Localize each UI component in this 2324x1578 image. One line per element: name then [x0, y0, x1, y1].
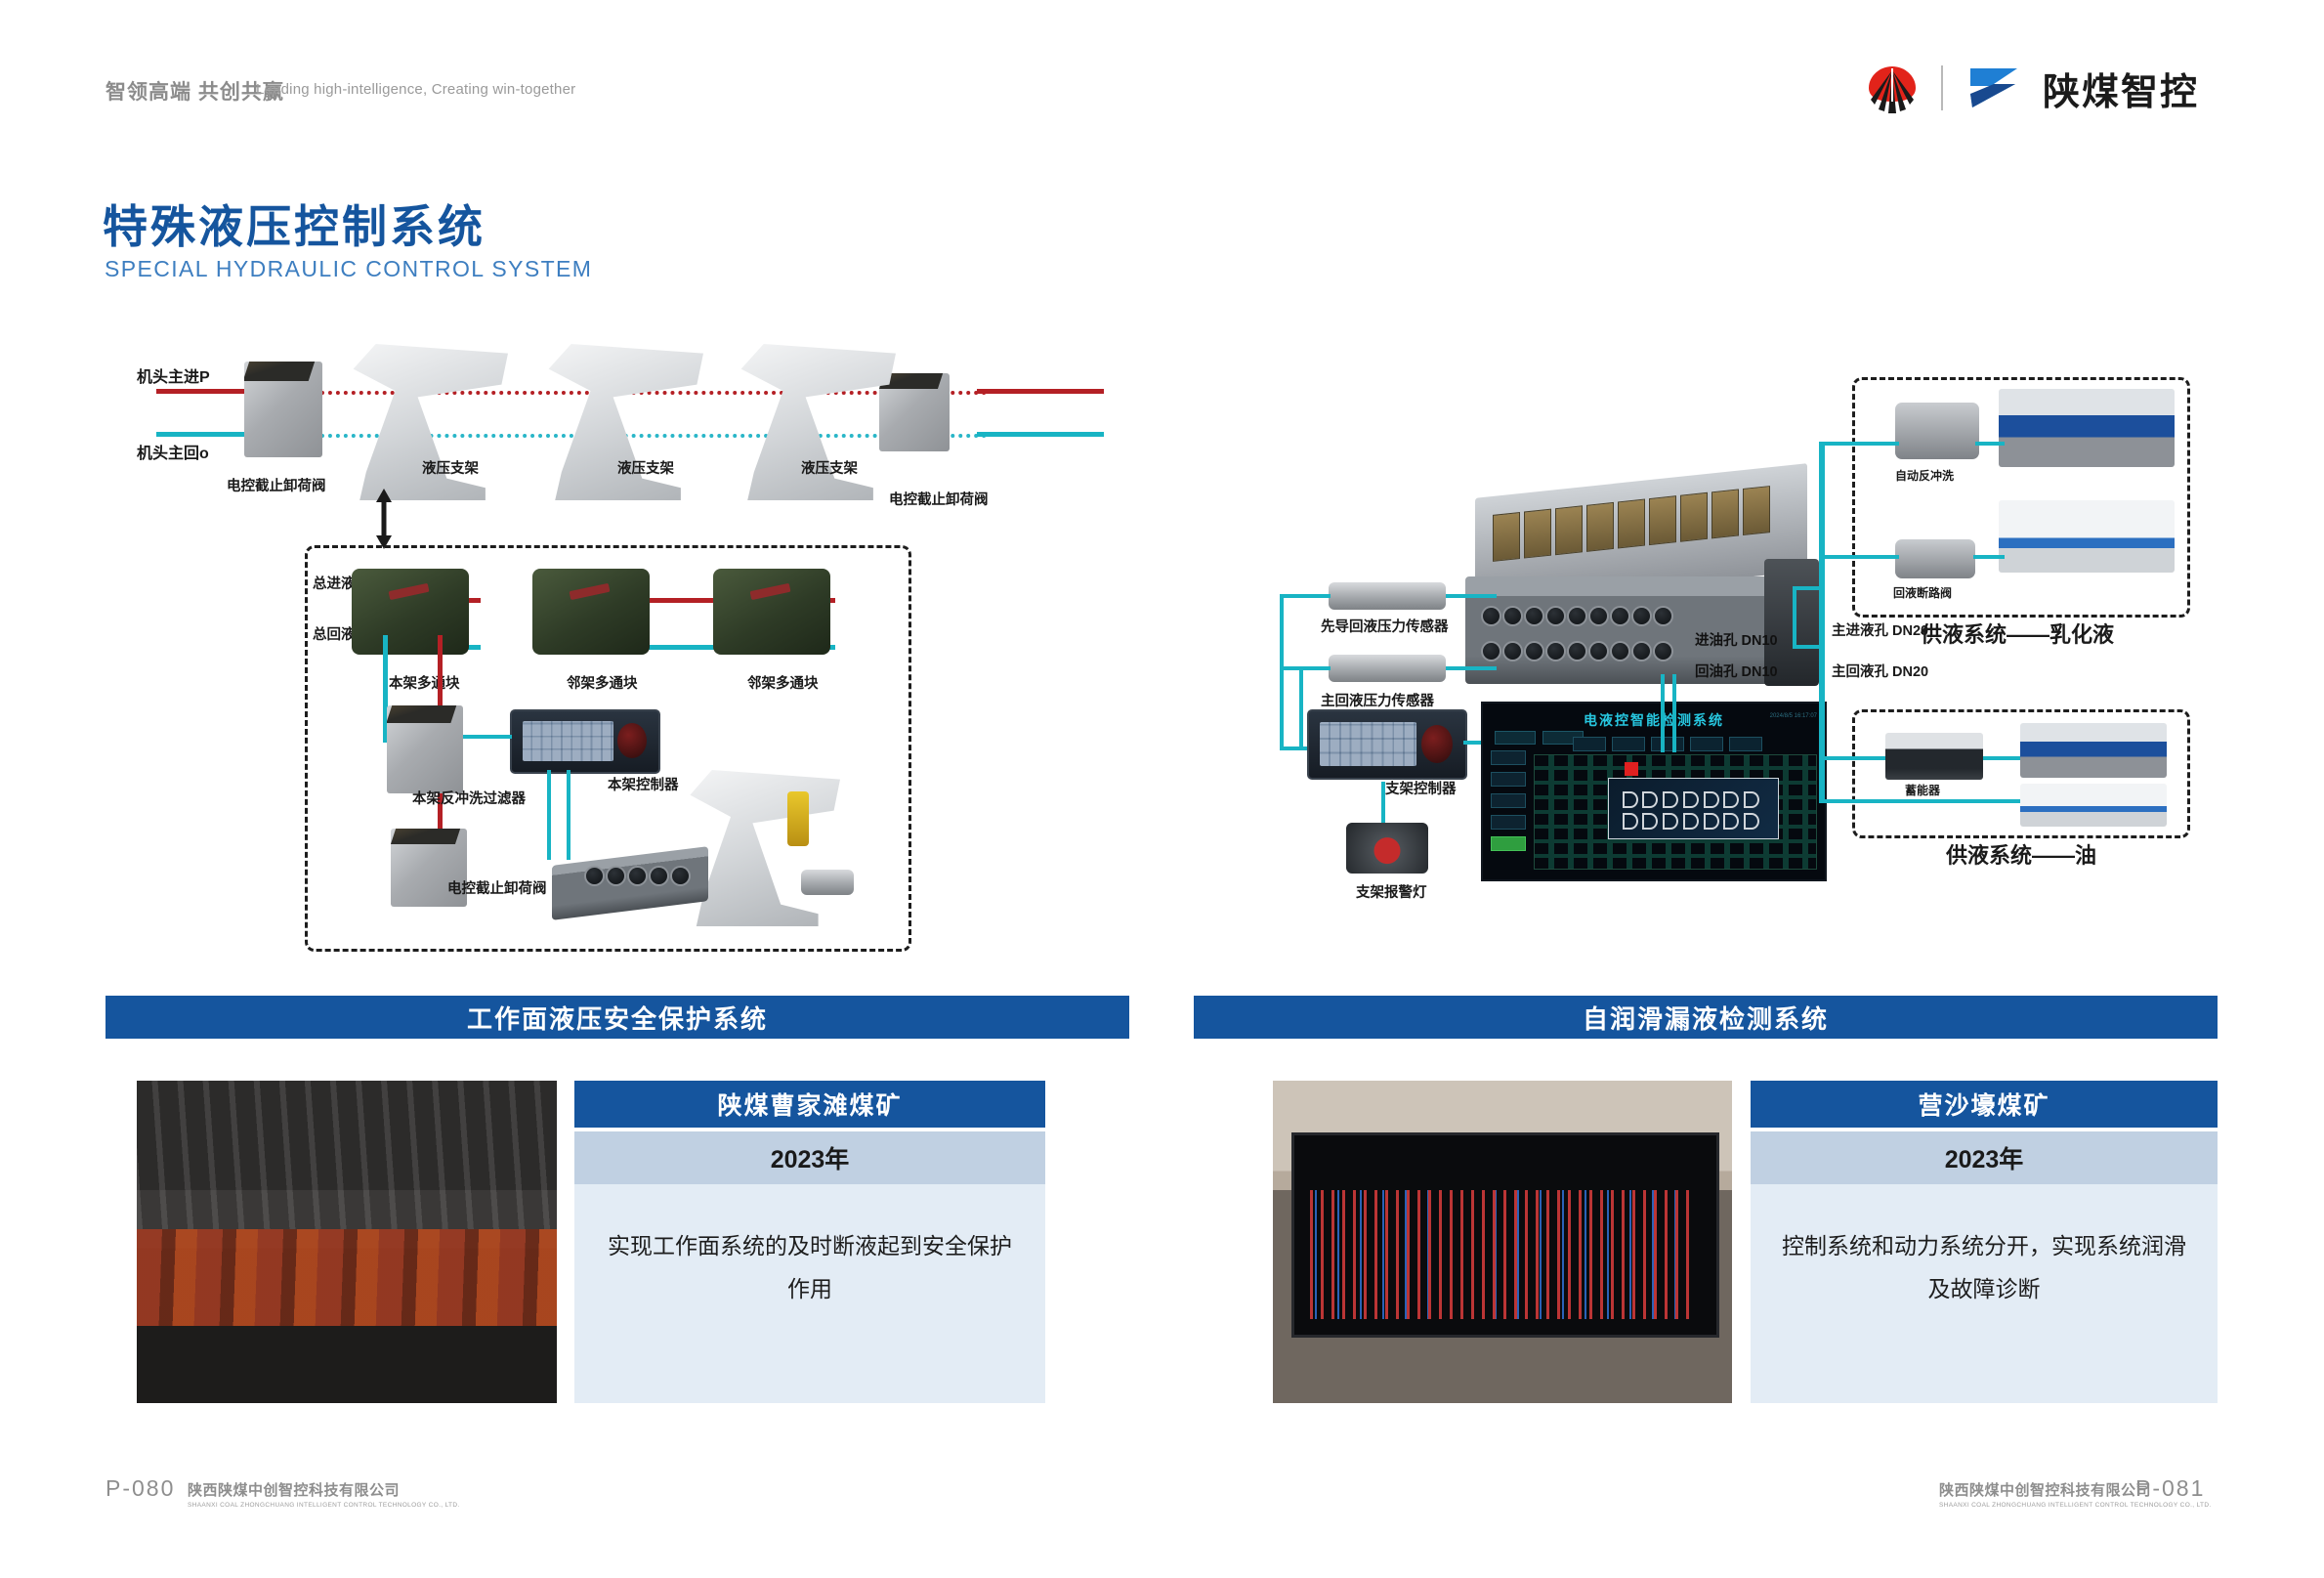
- screen-alarm-marker: [1625, 762, 1638, 776]
- filter-to-controller-pipe: [463, 735, 512, 739]
- pilot-sensor-pipe: [1446, 594, 1497, 598]
- page-subtitle: SPECIAL HYDRAULIC CONTROL SYSTEM: [105, 256, 592, 282]
- label-supply-emulsion: 供液系统——乳化液: [1921, 618, 2114, 649]
- bank-to-bus-1: [1793, 586, 1822, 590]
- logo-group: 陕煤智控: [1865, 61, 2199, 115]
- support-controller-photo: [1307, 709, 1467, 780]
- label-controller: 本架控制器: [608, 774, 679, 794]
- emulsion-pump-station-photo: [1999, 389, 2175, 467]
- label-return-breaker: 回液断路阀: [1893, 584, 1952, 601]
- label-support-2: 液压支架: [617, 457, 674, 478]
- label-block-adj-1: 邻架多通块: [567, 672, 638, 693]
- label-accumulator: 蓄能器: [1905, 782, 1940, 798]
- page-number-left: P-080: [106, 1475, 175, 1502]
- screen-detail-panel: [1608, 778, 1779, 838]
- case-photo-right: [1273, 1081, 1732, 1403]
- case-photo-left: [137, 1081, 557, 1403]
- oil-pipe-in: [1823, 756, 1885, 760]
- main-out-pipe-right: [977, 432, 1104, 437]
- logo-divider: [1941, 65, 1943, 110]
- label-support-3: 液压支架: [801, 457, 858, 478]
- controller-to-lamp-pipe: [1381, 782, 1385, 825]
- label-block-adj-2: 邻架多通块: [747, 672, 819, 693]
- label-auto-backwash: 自动反冲洗: [1895, 467, 1954, 484]
- screen-timestamp: 2024/8/5 16:17:07: [1770, 713, 1817, 719]
- controller-drop-1: [547, 770, 551, 860]
- electric-shutoff-unload-valve-left-photo: [244, 362, 322, 457]
- controller-drop-2: [567, 770, 570, 860]
- case-card-left: 陕煤曹家滩煤矿 2023年 实现工作面系统的及时断液起到安全保护作用: [574, 1081, 1045, 1403]
- return-breaker-valve-photo: [1895, 539, 1975, 578]
- right-vertical-bus: [1819, 442, 1825, 803]
- footer-company-left: 陕西陕煤中创智控科技有限公司 SHAANXI COAL ZHONGCHUANG …: [188, 1479, 460, 1509]
- adjacent-frame-manifold-photo-2: [713, 569, 830, 655]
- label-block-self: 本架多通块: [389, 672, 460, 693]
- self-frame-controller-photo: [510, 709, 660, 774]
- brand-name: 陕煤智控: [2043, 62, 2199, 115]
- adjacent-frame-manifold-photo-1: [532, 569, 650, 655]
- section-banner-left: 工作面液压安全保护系统: [106, 996, 1129, 1039]
- screen-field-row[interactable]: [1573, 737, 1762, 751]
- emulsion-pipe-in: [1823, 442, 1899, 446]
- oil-pump-station-photo: [2020, 723, 2167, 778]
- electric-shutoff-unload-valve-right-photo: [879, 373, 950, 451]
- yellow-accessory-photo: [787, 791, 809, 846]
- bank-bus-link: [1793, 586, 1796, 649]
- emulsion-pipe-return: [1823, 555, 1899, 559]
- footer-company-en-left: SHAANXI COAL ZHONGCHUANG INTELLIGENT CON…: [188, 1502, 460, 1509]
- case-year-right: 2023年: [1751, 1131, 2218, 1184]
- main-sensor-pipe-left: [1280, 666, 1331, 670]
- support-alarm-lamp-photo: [1346, 823, 1428, 874]
- screen-side-buttons[interactable]: [1491, 750, 1526, 851]
- label-valve-left: 电控截止卸荷阀: [227, 475, 326, 495]
- emulsion-pipe-mid: [1975, 442, 2005, 446]
- main-in-pipe: [156, 389, 254, 394]
- main-out-pipe: [156, 432, 254, 437]
- label-total-out: 总回液: [313, 623, 356, 644]
- page-title: 特殊液压控制系统: [103, 192, 486, 256]
- section-banner-right: 自润滑漏液检测系统: [1194, 996, 2218, 1039]
- screen-tabs[interactable]: [1495, 731, 1584, 745]
- case-desc-right: 控制系统和动力系统分开，实现系统润滑及故障诊断: [1751, 1184, 2218, 1403]
- bank-down-2: [1672, 674, 1676, 752]
- auto-backwash-photo: [1895, 403, 1979, 459]
- label-valve-inner: 电控截止卸荷阀: [447, 877, 547, 898]
- shaanxi-coal-group-logo-icon: [1865, 61, 1920, 115]
- screen-grid: [1534, 754, 1817, 870]
- case-name-right: 营沙壕煤矿: [1751, 1081, 2218, 1128]
- detection-system-screen[interactable]: 电液控智能检测系统 2024/8/5 16:17:07: [1481, 702, 1827, 881]
- label-valve-right: 电控截止卸荷阀: [889, 489, 989, 509]
- label-main-in: 机头主进P: [137, 363, 210, 387]
- label-port-oil-out: 回油孔 DN10: [1695, 661, 1778, 681]
- oil-out-port-row: [1483, 643, 1671, 660]
- case-year-left: 2023年: [574, 1131, 1045, 1184]
- emulsion-pipe-return-mid: [1973, 555, 2005, 559]
- page-number-right: P-081: [2135, 1475, 2205, 1502]
- main-return-pressure-sensor-photo: [1329, 655, 1446, 682]
- footer-company-en-right: SHAANXI COAL ZHONGCHUANG INTELLIGENT CON…: [1939, 1502, 2212, 1509]
- label-support-lamp: 支架报警灯: [1356, 881, 1427, 902]
- expand-arrow-icon: [373, 489, 395, 549]
- case-desc-left: 实现工作面系统的及时断液起到安全保护作用: [574, 1184, 1045, 1403]
- label-supply-oil: 供液系统——油: [1946, 838, 2096, 870]
- shaanxi-zhikong-mark-icon: [1965, 64, 2021, 111]
- tagline-english: Leading high-intelligence, Creating win-…: [256, 81, 575, 98]
- pilot-sensor-pipe-left: [1280, 594, 1331, 598]
- case-name-left: 陕煤曹家滩煤矿: [574, 1081, 1045, 1128]
- emulsion-tank-photo: [1999, 500, 2175, 573]
- accumulator-photo: [1885, 733, 1983, 780]
- label-port-liquid-in: 主进液孔 DN20: [1832, 619, 1928, 640]
- label-support-1: 液压支架: [422, 457, 479, 478]
- backwash-filter-photo: [387, 705, 463, 793]
- label-main-out: 机头主回o: [137, 440, 209, 463]
- bank-down-1: [1661, 674, 1665, 752]
- sensor-bus-1: [1280, 594, 1284, 750]
- oil-pipe-return: [1823, 799, 2020, 803]
- footer-company-cn-left: 陕西陕煤中创智控科技有限公司: [188, 1479, 460, 1500]
- case-card-right: 营沙壕煤矿 2023年 控制系统和动力系统分开，实现系统润滑及故障诊断: [1751, 1081, 2218, 1403]
- sensor-accessory-photo: [801, 870, 854, 895]
- label-filter: 本架反冲洗过滤器: [412, 788, 526, 808]
- label-port-liquid-out: 主回液孔 DN20: [1832, 661, 1928, 681]
- self-frame-manifold-photo: [352, 569, 469, 655]
- page-header: 智领高端 共创共赢 Leading high-intelligence, Cre…: [0, 0, 2324, 137]
- pilot-return-pressure-sensor-photo: [1329, 582, 1446, 610]
- label-total-in: 总进液: [313, 573, 356, 593]
- connector-ports: [586, 868, 689, 884]
- oil-pipe-mid: [1983, 756, 2020, 760]
- label-sensor-main: 主回液压力传感器: [1321, 690, 1434, 710]
- oil-tank-photo: [2020, 784, 2167, 827]
- label-support-controller: 支架控制器: [1385, 778, 1457, 798]
- label-port-oil-in: 进油孔 DN10: [1695, 629, 1778, 650]
- bank-to-bus-2: [1793, 645, 1822, 649]
- oil-in-port-row: [1483, 608, 1671, 624]
- main-sensor-pipe: [1446, 666, 1497, 670]
- label-sensor-pilot: 先导回液压力传感器: [1321, 616, 1449, 636]
- sensor-bus-2: [1299, 666, 1303, 750]
- main-in-pipe-right: [977, 389, 1104, 394]
